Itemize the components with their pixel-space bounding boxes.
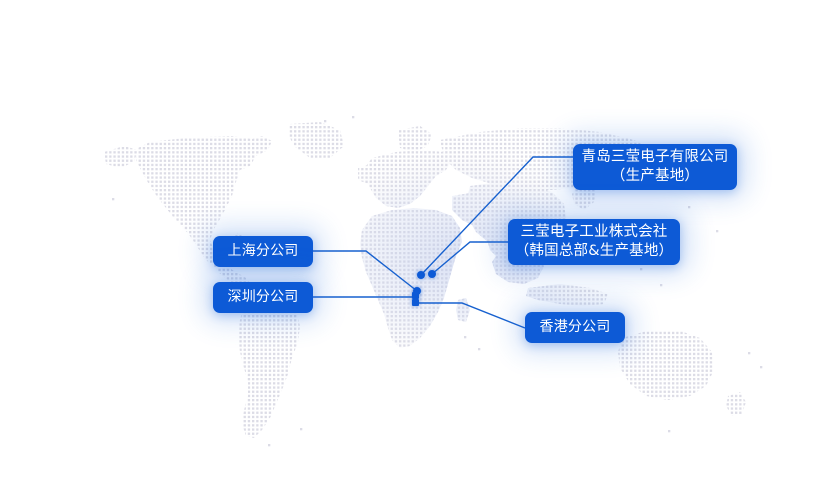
marker-korea[interactable] bbox=[428, 270, 436, 278]
label-korea-line1: 三莹电子工业株式会社 bbox=[521, 223, 668, 242]
label-shanghai[interactable]: 上海分公司 bbox=[213, 236, 313, 267]
label-hongkong[interactable]: 香港分公司 bbox=[525, 312, 625, 343]
map-dot-field bbox=[0, 0, 824, 480]
marker-shenzhen[interactable] bbox=[412, 292, 419, 299]
world-map-infographic: 青岛三莹电子有限公司 （生产基地） 三莹电子工业株式会社 （韩国总部&生产基地）… bbox=[0, 0, 824, 480]
label-qingdao[interactable]: 青岛三莹电子有限公司 （生产基地） bbox=[573, 144, 737, 190]
label-qingdao-line1: 青岛三莹电子有限公司 bbox=[582, 148, 729, 167]
label-shenzhen-line1: 深圳分公司 bbox=[228, 288, 299, 306]
dotted-world-map bbox=[0, 0, 824, 480]
marker-hongkong[interactable] bbox=[412, 299, 419, 306]
label-shenzhen[interactable]: 深圳分公司 bbox=[213, 282, 313, 313]
label-korea-line2: （韩国总部&生产基地） bbox=[515, 242, 674, 261]
marker-qingdao[interactable] bbox=[417, 271, 425, 279]
label-shanghai-line1: 上海分公司 bbox=[228, 242, 299, 260]
label-qingdao-line2: （生产基地） bbox=[611, 167, 699, 186]
label-korea-hq[interactable]: 三莹电子工业株式会社 （韩国总部&生产基地） bbox=[508, 219, 680, 265]
label-hongkong-line1: 香港分公司 bbox=[540, 318, 611, 336]
